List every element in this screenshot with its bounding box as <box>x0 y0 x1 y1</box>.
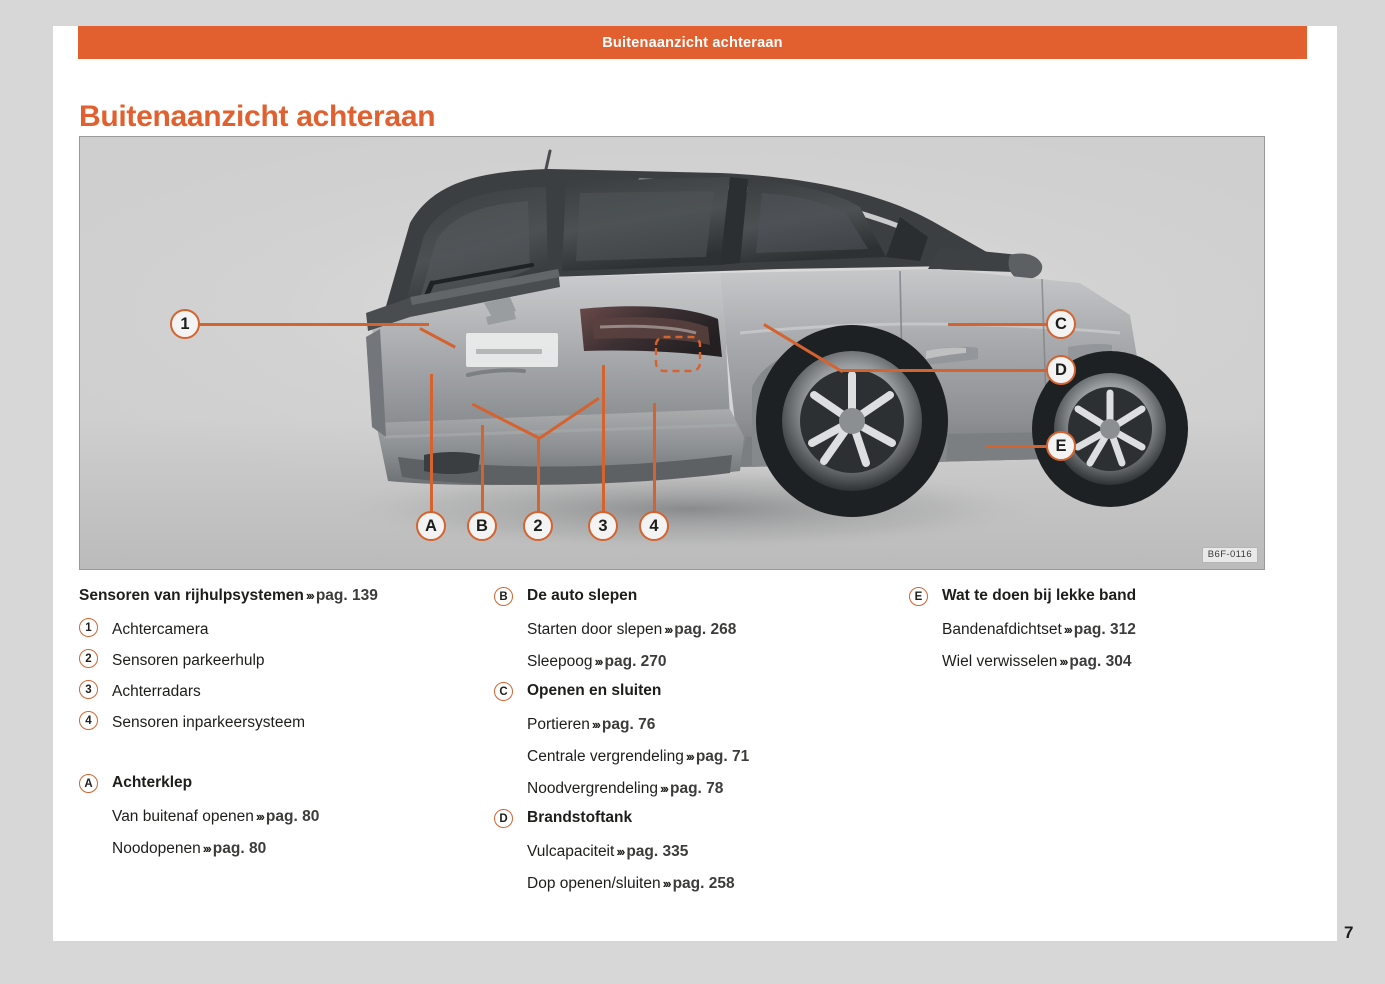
legend-item-4[interactable]: 4 Sensoren inparkeersysteem <box>79 707 494 738</box>
legend-link-portieren[interactable]: Portieren›››pag. 76 <box>494 709 909 741</box>
legend-link-bandenafdichtset[interactable]: Bandenafdichtset›››pag. 312 <box>909 614 1269 646</box>
legend-marker-A: A <box>79 774 98 793</box>
legend-link-ref: pag. 335 <box>626 843 688 860</box>
legend-link-ref: pag. 312 <box>1074 621 1136 638</box>
legend-marker-2: 2 <box>79 649 98 668</box>
callout-4[interactable]: 4 <box>639 511 669 541</box>
rear-exterior-view-figure: 1 A B 2 3 4 C D E B6F-0116 <box>79 136 1265 570</box>
legend-link-wiel-verwisselen[interactable]: Wiel verwisselen›››pag. 304 <box>909 646 1269 678</box>
legend-marker-1: 1 <box>79 618 98 637</box>
legend-link-label: Bandenafdichtset <box>942 621 1062 638</box>
legend-link-label: Noodvergrendeling <box>527 780 658 797</box>
legend-marker-4: 4 <box>79 711 98 730</box>
chevron-icon: ››› <box>201 841 213 856</box>
legend-link-label: Van buitenaf openen <box>112 808 254 825</box>
legend-link-noodvergrendeling[interactable]: Noodvergrendeling›››pag. 78 <box>494 773 909 805</box>
leader-line-4 <box>653 403 656 526</box>
legend-heading-sensors-ref: pag. 139 <box>316 587 378 604</box>
legend-column-1-spacer <box>79 738 494 770</box>
legend-column-1: Sensoren van rijhulpsystemen›››pag. 139 … <box>79 583 494 900</box>
callout-C[interactable]: C <box>1046 309 1076 339</box>
legend-group-A: A Achterklep <box>79 770 494 796</box>
legend-item-4-label: Sensoren inparkeersysteem <box>112 707 305 738</box>
figure-id-label: B6F-0116 <box>1202 547 1258 563</box>
legend-link-ref: pag. 71 <box>696 748 749 765</box>
legend-link-label: Portieren <box>527 716 590 733</box>
legend-group-B: B De auto slepen <box>494 583 909 609</box>
legend-item-3[interactable]: 3 Achterradars <box>79 676 494 707</box>
legend-link-label: Dop openen/sluiten <box>527 875 661 892</box>
legend-item-2-label: Sensoren parkeerhulp <box>112 645 265 676</box>
legend-link-vulcapaciteit[interactable]: Vulcapaciteit›››pag. 335 <box>494 836 909 868</box>
legend-link-label: Vulcapaciteit <box>527 843 614 860</box>
legend-link-ref: pag. 258 <box>673 875 735 892</box>
running-header-bar: Buitenaanzicht achteraan <box>78 26 1307 59</box>
callout-2[interactable]: 2 <box>523 511 553 541</box>
callout-B[interactable]: B <box>467 511 497 541</box>
car-illustration <box>80 137 1264 569</box>
leader-line-3 <box>602 365 605 526</box>
legend-group-E: E Wat te doen bij lekke band <box>909 583 1269 609</box>
callout-1[interactable]: 1 <box>170 309 200 339</box>
legend-heading-sensors-text: Sensoren van rijhulpsystemen <box>79 587 304 604</box>
chevron-icon: ››› <box>658 781 670 796</box>
chevron-icon: ››› <box>1057 654 1069 669</box>
legend-marker-B: B <box>494 587 513 606</box>
legend-link-ref: pag. 270 <box>605 653 667 670</box>
legend-group-A-title: Achterklep <box>112 770 192 796</box>
legend-column-2: B De auto slepen Starten door slepen›››p… <box>494 583 909 900</box>
chevron-icon: ››› <box>661 876 673 891</box>
legend-link-label: Noodopenen <box>112 840 201 857</box>
legend-item-2[interactable]: 2 Sensoren parkeerhulp <box>79 645 494 676</box>
legend-link-label: Centrale vergrendeling <box>527 748 684 765</box>
legend-link-dop-openen-sluiten[interactable]: Dop openen/sluiten›››pag. 258 <box>494 868 909 900</box>
page-title: Buitenaanzicht achteraan <box>79 100 435 134</box>
legend-column-3: E Wat te doen bij lekke band Bandenafdic… <box>909 583 1269 900</box>
chevron-icon: ››› <box>684 749 696 764</box>
legend-marker-D: D <box>494 809 513 828</box>
legend-item-3-label: Achterradars <box>112 676 201 707</box>
legend-item-1[interactable]: 1 Achtercamera <box>79 614 494 645</box>
legend-link-centrale-vergrendeling[interactable]: Centrale vergrendeling›››pag. 71 <box>494 741 909 773</box>
callout-E[interactable]: E <box>1046 431 1076 461</box>
callout-A[interactable]: A <box>416 511 446 541</box>
legend-group-C: C Openen en sluiten <box>494 678 909 704</box>
chevron-icon: ››› <box>590 717 602 732</box>
chevron-icon: ››› <box>662 622 674 637</box>
legend-link-sleepoog[interactable]: Sleepoog›››pag. 270 <box>494 646 909 678</box>
legend-marker-E: E <box>909 587 928 606</box>
legend-link-label: Starten door slepen <box>527 621 662 638</box>
legend-group-D-title: Brandstoftank <box>527 805 632 831</box>
legend-item-1-label: Achtercamera <box>112 614 208 645</box>
leader-line-1 <box>199 323 429 326</box>
legend-marker-3: 3 <box>79 680 98 699</box>
legend-link-ref: pag. 78 <box>670 780 723 797</box>
leader-line-E <box>986 445 1054 448</box>
legend-link-achterklep-van-buitenaf-openen[interactable]: Van buitenaf openen›››pag. 80 <box>79 801 494 833</box>
running-header-title: Buitenaanzicht achteraan <box>602 35 782 51</box>
chevron-icon: ››› <box>254 809 266 824</box>
legend-group-C-title: Openen en sluiten <box>527 678 661 704</box>
callout-3[interactable]: 3 <box>588 511 618 541</box>
legend-link-achterklep-noodopenen[interactable]: Noodopenen›››pag. 80 <box>79 833 494 865</box>
legend-group-B-title: De auto slepen <box>527 583 637 609</box>
chevron-icon: ››› <box>1062 622 1074 637</box>
legend-link-ref: pag. 80 <box>266 808 319 825</box>
legend-marker-C: C <box>494 682 513 701</box>
legend-link-label: Wiel verwisselen <box>942 653 1057 670</box>
leader-line-D-run <box>840 369 1054 372</box>
chevron-icon: ››› <box>593 654 605 669</box>
legend-link-ref: pag. 80 <box>213 840 266 857</box>
legend-heading-sensors: Sensoren van rijhulpsystemen›››pag. 139 <box>79 583 494 609</box>
callout-D[interactable]: D <box>1046 355 1076 385</box>
legend-link-label: Sleepoog <box>527 653 593 670</box>
legend-link-starten-door-slepen[interactable]: Starten door slepen›››pag. 268 <box>494 614 909 646</box>
legend-link-ref: pag. 76 <box>602 716 655 733</box>
legend-link-ref: pag. 268 <box>674 621 736 638</box>
page-root: Buitenaanzicht achteraan Buitenaanzicht … <box>0 0 1385 984</box>
chevron-icon: ››› <box>304 588 316 603</box>
legend-group-E-title: Wat te doen bij lekke band <box>942 583 1136 609</box>
page-number: 7 <box>1344 923 1353 943</box>
chevron-icon: ››› <box>614 844 626 859</box>
legend-link-ref: pag. 304 <box>1069 653 1131 670</box>
legend: Sensoren van rijhulpsystemen›››pag. 139 … <box>79 583 1269 900</box>
legend-group-D: D Brandstoftank <box>494 805 909 831</box>
leader-line-C <box>948 323 1053 326</box>
leader-line-A-vertical <box>430 374 433 526</box>
